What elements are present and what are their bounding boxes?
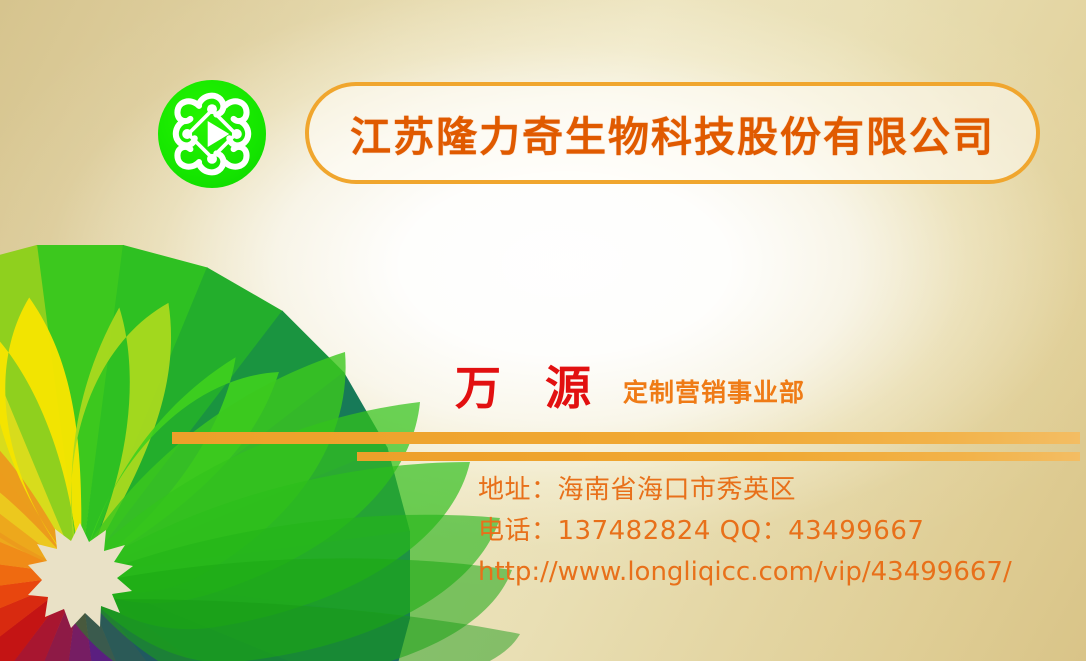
top-divider-bar <box>172 432 1080 444</box>
contact-address: 地址：海南省海口市秀英区 <box>478 470 1012 511</box>
bottom-divider-bar <box>357 452 1080 461</box>
company-name-box: 江苏隆力奇生物科技股份有限公司 <box>305 82 1040 184</box>
business-card: 江苏隆力奇生物科技股份有限公司 万 源 定制营销事业部 地址：海南省海口市秀英区… <box>0 0 1086 661</box>
company-name: 江苏隆力奇生物科技股份有限公司 <box>350 103 995 163</box>
company-logo <box>158 80 266 188</box>
flower-green-leaves <box>60 352 520 661</box>
flower-pointed-petals <box>0 287 295 609</box>
flower-wedge-fan <box>0 245 410 661</box>
ornamental-emblem-icon <box>158 80 266 188</box>
flower-center-starburst <box>28 523 133 628</box>
person-name: 万 源 <box>455 352 605 418</box>
contact-website[interactable]: http://www.longliqicc.com/vip/43499667/ <box>478 552 1012 593</box>
person-block: 万 源 定制营销事业部 <box>455 352 805 418</box>
contact-block: 地址：海南省海口市秀英区 电话：137482824 QQ：43499667 ht… <box>478 470 1012 593</box>
person-title: 定制营销事业部 <box>623 373 805 409</box>
contact-phone-qq: 电话：137482824 QQ：43499667 <box>478 511 1012 552</box>
